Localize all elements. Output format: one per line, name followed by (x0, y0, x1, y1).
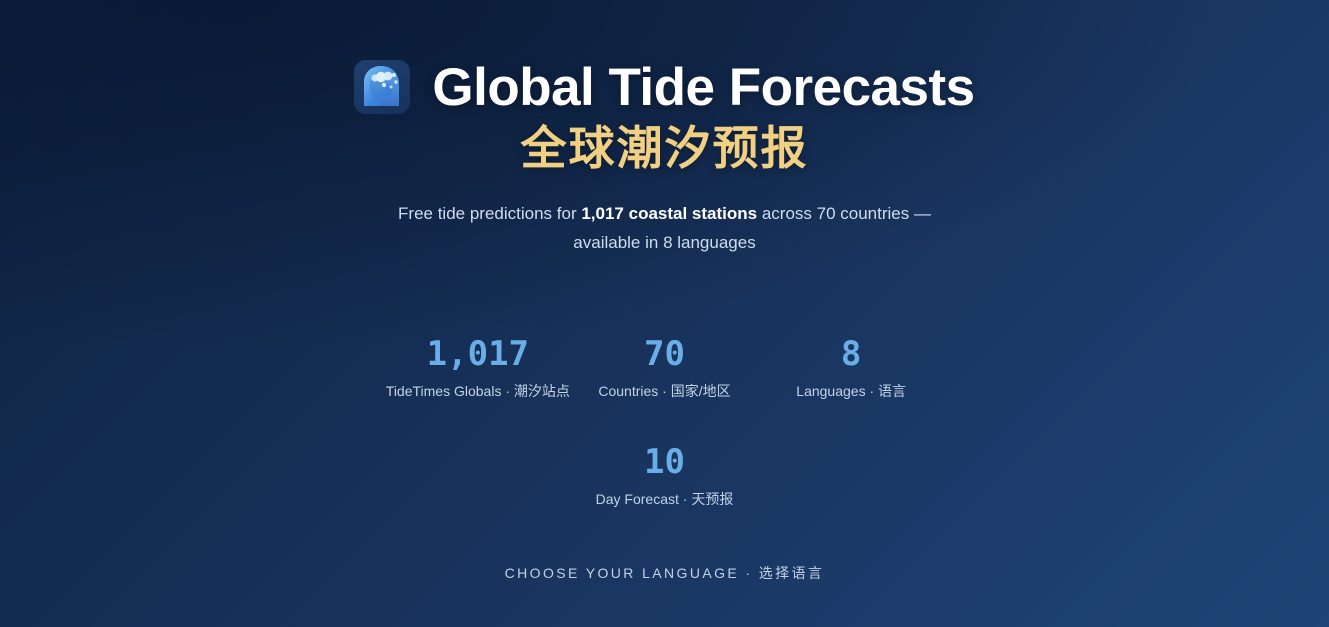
stat-card-forecast-days: 10 Day Forecast · 天预报 (571, 443, 758, 508)
stat-card-languages: 8 Languages · 语言 (758, 335, 945, 400)
page-subtitle: Free tide predictions for 1,017 coastal … (385, 199, 945, 257)
stat-label: Languages · 语言 (758, 382, 945, 400)
stat-card-stations: 1,017 TideTimes Globals · 潮汐站点 (385, 335, 572, 400)
stat-label: TideTimes Globals · 潮汐站点 (385, 382, 572, 400)
subtitle-text-lead: Free tide predictions for (398, 204, 581, 223)
stat-card-countries: 70 Countries · 国家/地区 (571, 335, 758, 400)
stat-value: 10 (571, 443, 758, 482)
stat-value: 8 (758, 335, 945, 374)
page-title-en: Global Tide Forecasts (432, 61, 974, 114)
stat-label: Day Forecast · 天预报 (571, 490, 758, 508)
stat-value: 1,017 (385, 335, 572, 374)
page-title-zh: 全球潮汐预报 (521, 122, 809, 175)
wave-logo-icon (354, 60, 410, 114)
stat-value: 70 (571, 335, 758, 374)
landing-page: Global Tide Forecasts 全球潮汐预报 Free tide p… (0, 0, 1329, 627)
choose-language-heading: CHOOSE YOUR LANGUAGE · 选择语言 (505, 563, 825, 583)
stat-label: Countries · 国家/地区 (571, 382, 758, 400)
stats-grid: 1,017 TideTimes Globals · 潮汐站点 70 Countr… (385, 335, 945, 508)
subtitle-highlight: 1,017 coastal stations (581, 204, 757, 223)
title-row: Global Tide Forecasts (354, 60, 974, 114)
